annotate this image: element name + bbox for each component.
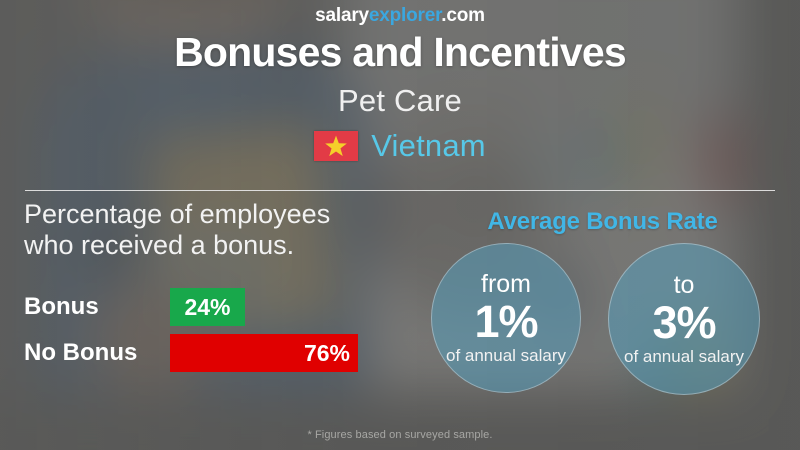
bar-label-bonus: Bonus xyxy=(24,288,99,326)
infographic-root: salaryexplorer.com Bonuses and Incentive… xyxy=(0,0,800,450)
bonus-bar-chart: Bonus 24% No Bonus 76% xyxy=(24,288,424,380)
circle-value-to: 3% xyxy=(652,300,715,346)
average-bonus-rate-title: Average Bonus Rate xyxy=(430,208,775,236)
page-subtitle: Pet Care xyxy=(0,83,800,119)
bar-bonus: 24% xyxy=(170,288,245,326)
circle-note-from: of annual salary xyxy=(446,347,566,364)
circle-note-to: of annual salary xyxy=(624,348,744,365)
circle-word-to: to xyxy=(674,273,695,298)
bar-label-no-bonus: No Bonus xyxy=(24,334,137,372)
site-logo[interactable]: salaryexplorer.com xyxy=(0,5,800,27)
logo-suffix: .com xyxy=(441,5,485,26)
vietnam-flag-icon xyxy=(314,131,358,161)
circle-word-from: from xyxy=(481,272,531,297)
bar-row-bonus: Bonus 24% xyxy=(24,288,424,334)
lead-line-2: who received a bonus. xyxy=(24,230,444,261)
logo-prefix: salary xyxy=(315,5,369,26)
country-name: Vietnam xyxy=(371,128,486,164)
bar-value-bonus: 24% xyxy=(184,294,230,321)
footnote: * Figures based on surveyed sample. xyxy=(0,429,800,441)
bar-row-no-bonus: No Bonus 76% xyxy=(24,334,424,380)
page-title: Bonuses and Incentives xyxy=(0,29,800,76)
circle-value-from: 1% xyxy=(474,299,537,345)
bonus-rate-circle-from: from 1% of annual salary xyxy=(431,243,581,393)
section-divider xyxy=(25,190,775,191)
lead-line-1: Percentage of employees xyxy=(24,199,444,230)
left-panel-heading: Percentage of employees who received a b… xyxy=(24,199,444,262)
bar-no-bonus: 76% xyxy=(170,334,358,372)
bonus-rate-circle-to: to 3% of annual salary xyxy=(608,243,760,395)
bar-value-no-bonus: 76% xyxy=(304,340,350,367)
logo-middle: explorer xyxy=(369,5,441,26)
country-row: Vietnam xyxy=(0,128,800,164)
